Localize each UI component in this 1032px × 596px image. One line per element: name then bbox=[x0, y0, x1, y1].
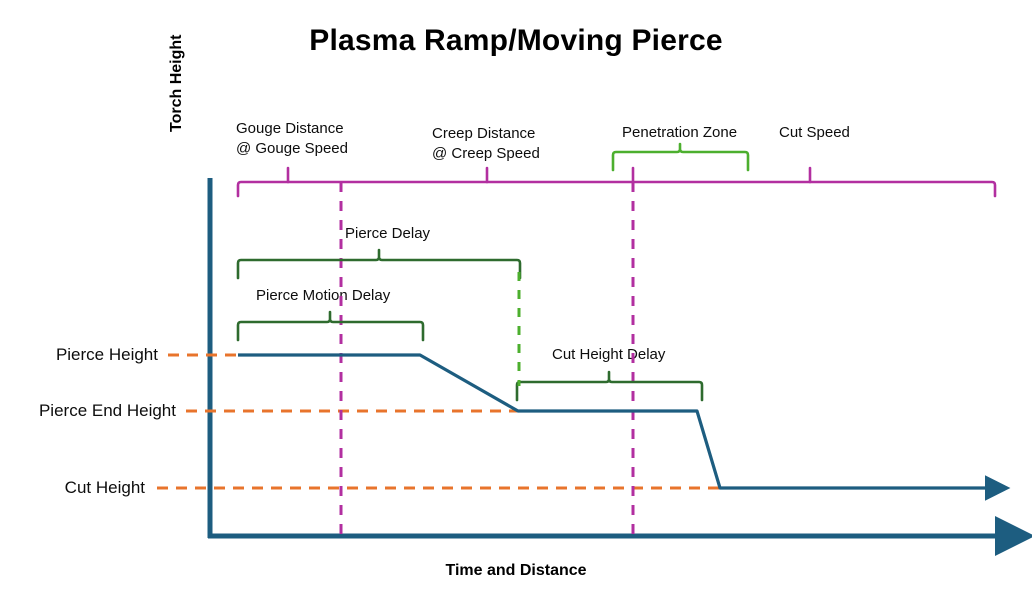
cut-height-delay-bracket bbox=[517, 372, 702, 400]
pierce-motion-delay-bracket bbox=[238, 312, 423, 340]
pierce-delay-bracket bbox=[238, 250, 520, 278]
penetration-zone-bracket bbox=[613, 144, 748, 170]
diagram-vector-layer bbox=[0, 0, 1032, 596]
speed-bracket-line bbox=[238, 182, 995, 196]
diagram-canvas: Plasma Ramp/Moving Pierce Torch Height T… bbox=[0, 0, 1032, 596]
torch-height-curve bbox=[238, 355, 988, 488]
